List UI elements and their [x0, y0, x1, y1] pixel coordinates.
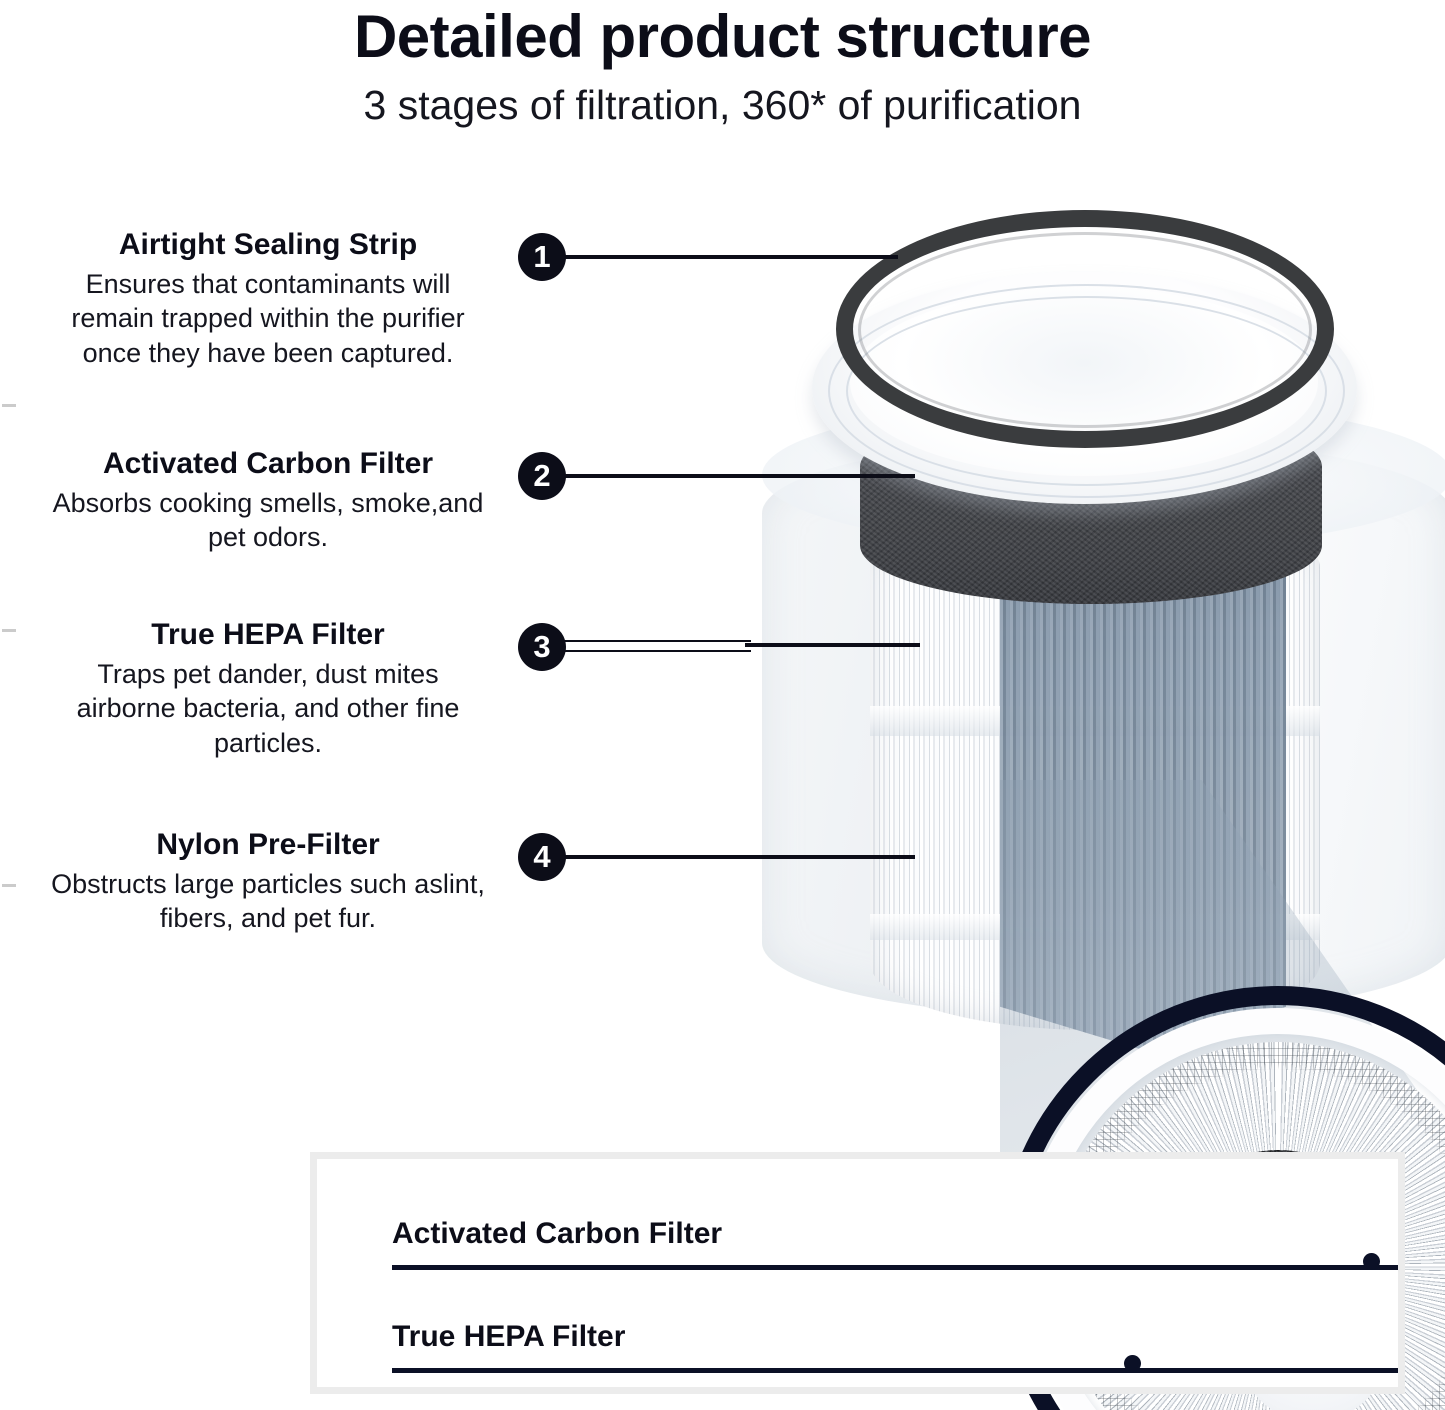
callout-4-title: Nylon Pre-Filter: [48, 828, 488, 862]
badge-3[interactable]: 3: [518, 623, 566, 671]
callout-3-title: True HEPA Filter: [48, 618, 488, 652]
callout-3: True HEPA Filter Traps pet dander, dust …: [48, 618, 488, 760]
callout-2-title: Activated Carbon Filter: [48, 447, 488, 481]
badge-1[interactable]: 1: [518, 233, 566, 281]
callout-1-title: Airtight Sealing Strip: [48, 228, 488, 262]
panel-label-true-hepa: True HEPA Filter: [392, 1320, 625, 1354]
badge-4[interactable]: 4: [518, 833, 566, 881]
leader-line-4: [563, 855, 915, 859]
leader-line-3: [745, 643, 920, 647]
callout-4: Nylon Pre-Filter Obstructs large particl…: [48, 828, 488, 936]
edge-tick-3: [2, 884, 16, 887]
page-title: Detailed product structure: [0, 2, 1445, 71]
legend-panel: Activated Carbon Filter True HEPA Filter: [310, 1152, 1405, 1394]
panel-label-activated-carbon: Activated Carbon Filter: [392, 1217, 722, 1251]
panel-leader-activated-carbon: [392, 1265, 1405, 1270]
callout-3-body: Traps pet dander, dust mites airborne ba…: [48, 657, 488, 761]
leader-line-2: [563, 474, 915, 478]
leader-line-3-lower: [563, 650, 751, 652]
edge-tick-1: [2, 404, 16, 407]
callout-1-body: Ensures that contaminants will remain tr…: [48, 267, 488, 371]
page-subtitle: 3 stages of filtration, 360* of purifica…: [0, 82, 1445, 129]
leader-dot-true-hepa: [1124, 1355, 1141, 1372]
badge-2[interactable]: 2: [518, 452, 566, 500]
callout-1: Airtight Sealing Strip Ensures that cont…: [48, 228, 488, 370]
callout-2-body: Absorbs cooking smells, smoke,and pet od…: [48, 486, 488, 555]
callout-4-body: Obstructs large particles such aslint, f…: [48, 867, 488, 936]
sealing-ring-inner-highlight: [858, 232, 1312, 428]
product-illustration: [700, 180, 1445, 1180]
leader-line-1: [563, 255, 898, 259]
infographic-canvas: Detailed product structure 3 stages of f…: [0, 0, 1445, 1410]
panel-leader-true-hepa: [392, 1368, 1405, 1373]
callout-2: Activated Carbon Filter Absorbs cooking …: [48, 447, 488, 555]
leader-dot-activated-carbon: [1363, 1253, 1380, 1270]
leader-line-3-upper: [563, 640, 751, 642]
edge-tick-2: [2, 629, 16, 632]
